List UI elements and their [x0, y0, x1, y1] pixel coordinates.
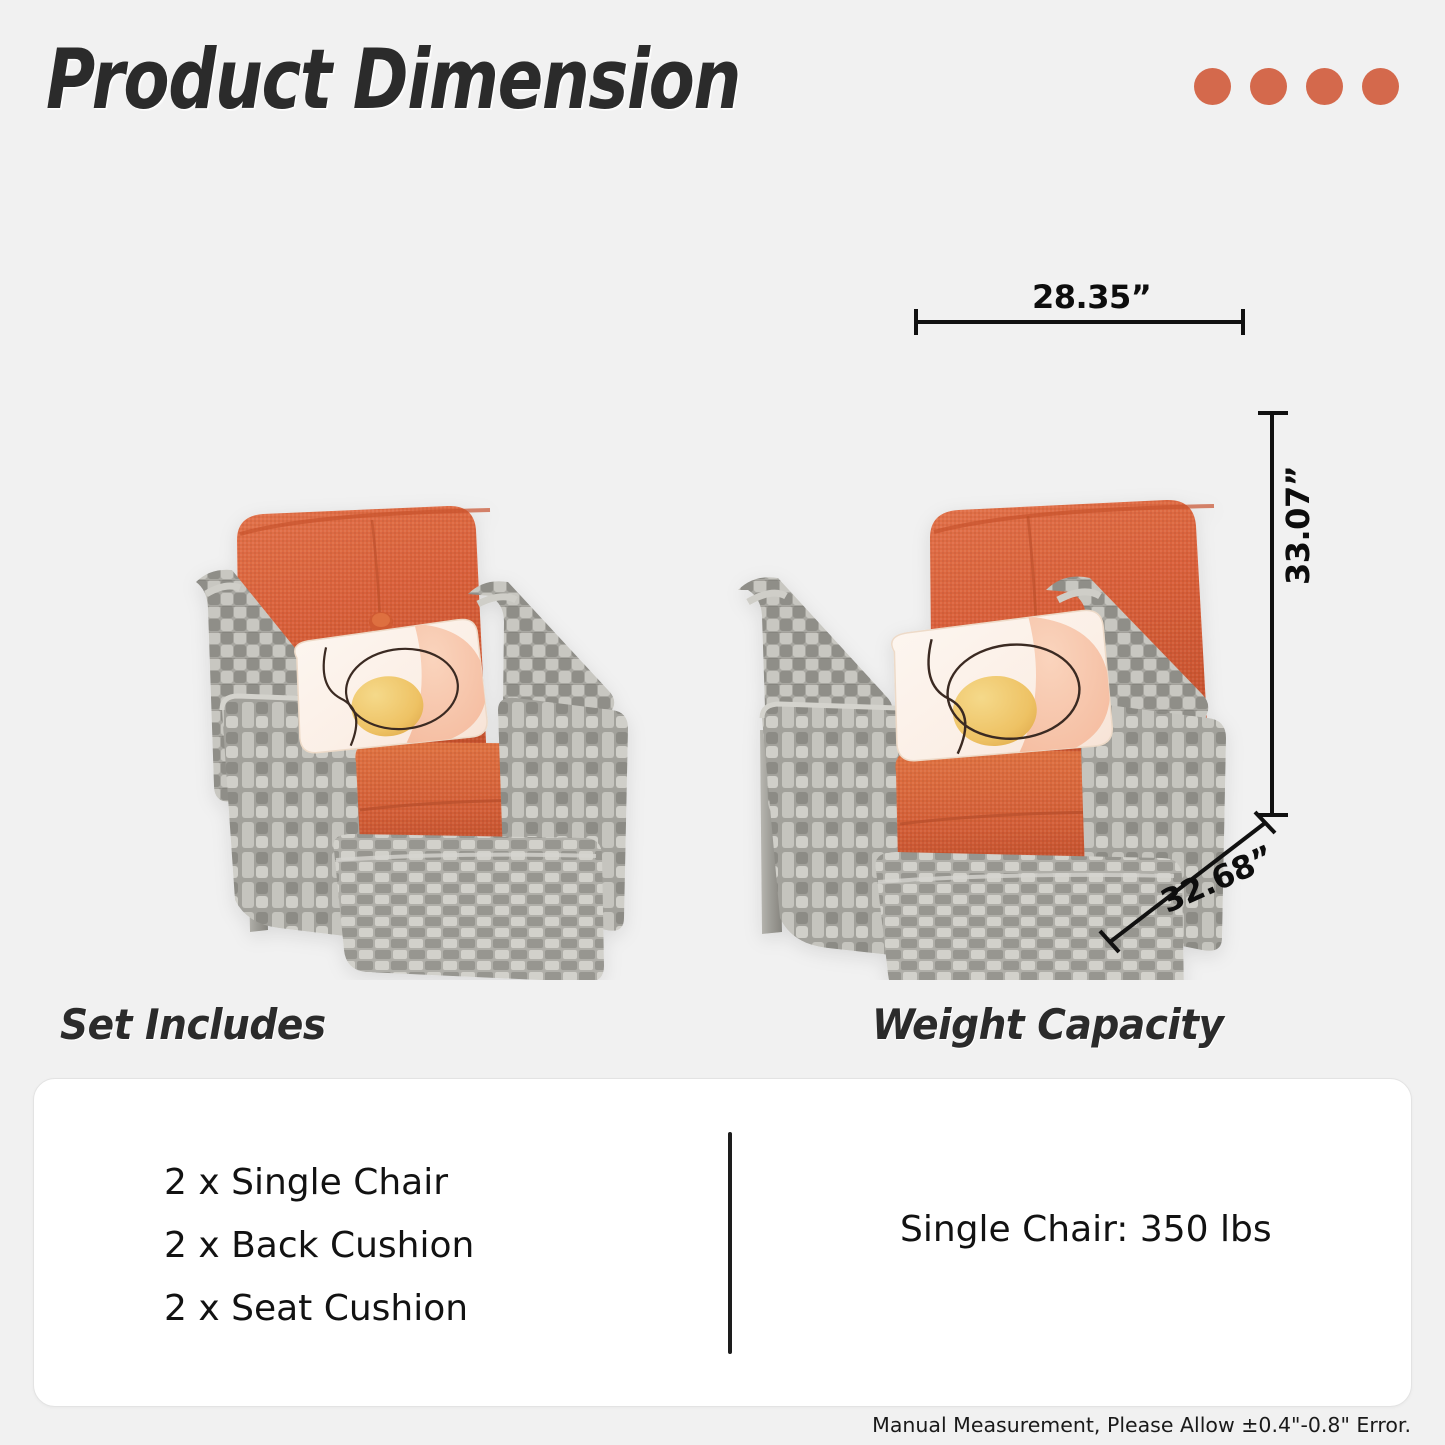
frame-base-right: [875, 852, 1184, 980]
dot-4: [1362, 68, 1399, 105]
chair-left: [196, 506, 628, 980]
info-card: 2 x Single Chair 2 x Back Cushion 2 x Se…: [33, 1078, 1412, 1407]
set-includes-heading: Set Includes: [60, 1000, 326, 1049]
page-title: Product Dimension: [46, 38, 740, 121]
dot-3: [1306, 68, 1343, 105]
list-item: 2 x Seat Cushion: [164, 1277, 684, 1340]
decorative-dots: [1194, 68, 1399, 105]
weight-capacity-value: Single Chair: 350 lbs: [900, 1209, 1272, 1250]
accent-pillow-left: [291, 618, 491, 756]
weight-capacity-heading: Weight Capacity: [872, 1000, 1224, 1049]
accent-pillow-right: [888, 609, 1114, 768]
set-includes-list: 2 x Single Chair 2 x Back Cushion 2 x Se…: [164, 1151, 684, 1340]
height-dimension-label: 33.07”: [1279, 466, 1317, 585]
frame-base-left: [333, 834, 604, 980]
dot-1: [1194, 68, 1231, 105]
width-dimension-label: 28.35”: [1032, 278, 1151, 316]
measurement-footnote: Manual Measurement, Please Allow ±0.4"-0…: [872, 1413, 1411, 1437]
dot-2: [1250, 68, 1287, 105]
product-dimension-infographic: Product Dimension: [0, 0, 1445, 1445]
list-item: 2 x Single Chair: [164, 1151, 684, 1214]
card-divider: [728, 1132, 732, 1354]
list-item: 2 x Back Cushion: [164, 1214, 684, 1277]
